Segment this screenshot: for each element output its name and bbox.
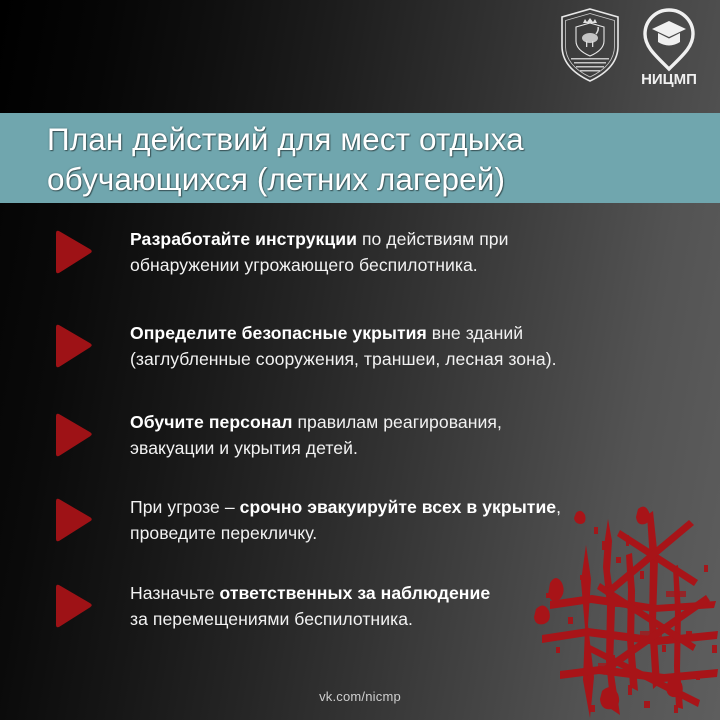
list-item-bold-lead: Обучите персонал <box>130 412 293 432</box>
list-item-text: Обучите персонал правилам реагирования, … <box>130 409 502 461</box>
red-triangle-arrow-icon <box>50 411 94 459</box>
red-triangle-arrow-icon <box>50 322 94 370</box>
red-triangle-arrow-icon <box>50 228 94 276</box>
nicmp-logo: НИЦМП <box>634 6 704 88</box>
list-item-line-2: (заглубленные сооружения, траншеи, лесна… <box>130 349 557 369</box>
list-item: Определите безопасные укрытия вне зданий… <box>0 300 720 392</box>
list-item-line-2: за перемещениями беспилотника. <box>130 609 413 629</box>
list-item-bold-lead: Разработайте инструкции <box>130 229 357 249</box>
list-item-bold-lead: Определите безопасные укрытия <box>130 323 427 343</box>
list-item-text: Разработайте инструкции по действиям при… <box>130 226 509 278</box>
list-item-text: При угрозе – срочно эвакуируйте всех в у… <box>130 494 561 546</box>
list-item-line-2: проведите перекличку. <box>130 523 317 543</box>
list-item-rest: вне зданий <box>427 323 523 343</box>
shield-emblem-logo <box>558 6 622 84</box>
list-item-line-2: обнаружении угрожающего беспилотника. <box>130 255 478 275</box>
list-item: Разработайте инструкции по действиям при… <box>0 203 720 300</box>
list-item-line-2: эвакуации и укрытия детей. <box>130 438 358 458</box>
list-item-lead: При угрозе – <box>130 497 240 517</box>
page-title-line-1: План действий для мест отдыха <box>47 119 720 159</box>
list-item: Назначьте ответственных за наблюдение за… <box>0 562 720 650</box>
nicmp-logo-label: НИЦМП <box>641 71 697 88</box>
header-bar: НИЦМП <box>0 0 720 113</box>
list-item-rest: правилам реагирования, <box>293 412 502 432</box>
list-item-bold-mid: срочно эвакуируйте всех в укрытие <box>240 497 557 517</box>
page-title-line-2: обучающихся (летних лагерей) <box>47 159 720 199</box>
list-item-rest: , <box>556 497 561 517</box>
red-triangle-arrow-icon <box>50 496 94 544</box>
list-item-bold-mid: ответственных за наблюдение <box>219 583 490 603</box>
logo-group: НИЦМП <box>558 6 704 88</box>
list-item: Обучите персонал правилам реагирования, … <box>0 392 720 478</box>
action-list: Разработайте инструкции по действиям при… <box>0 203 720 650</box>
list-item-lead: Назначьте <box>130 583 219 603</box>
list-item-text: Назначьте ответственных за наблюдение за… <box>130 580 490 632</box>
red-triangle-arrow-icon <box>50 582 94 630</box>
poster-root: НИЦМП План действий для мест отдыха обуч… <box>0 0 720 720</box>
list-item-text: Определите безопасные укрытия вне зданий… <box>130 320 557 372</box>
list-item: При угрозе – срочно эвакуируйте всех в у… <box>0 478 720 562</box>
page-title-band: План действий для мест отдыха обучающихс… <box>0 113 720 203</box>
list-item-rest: по действиям при <box>357 229 509 249</box>
footer-link[interactable]: vk.com/nicmp <box>0 689 720 704</box>
